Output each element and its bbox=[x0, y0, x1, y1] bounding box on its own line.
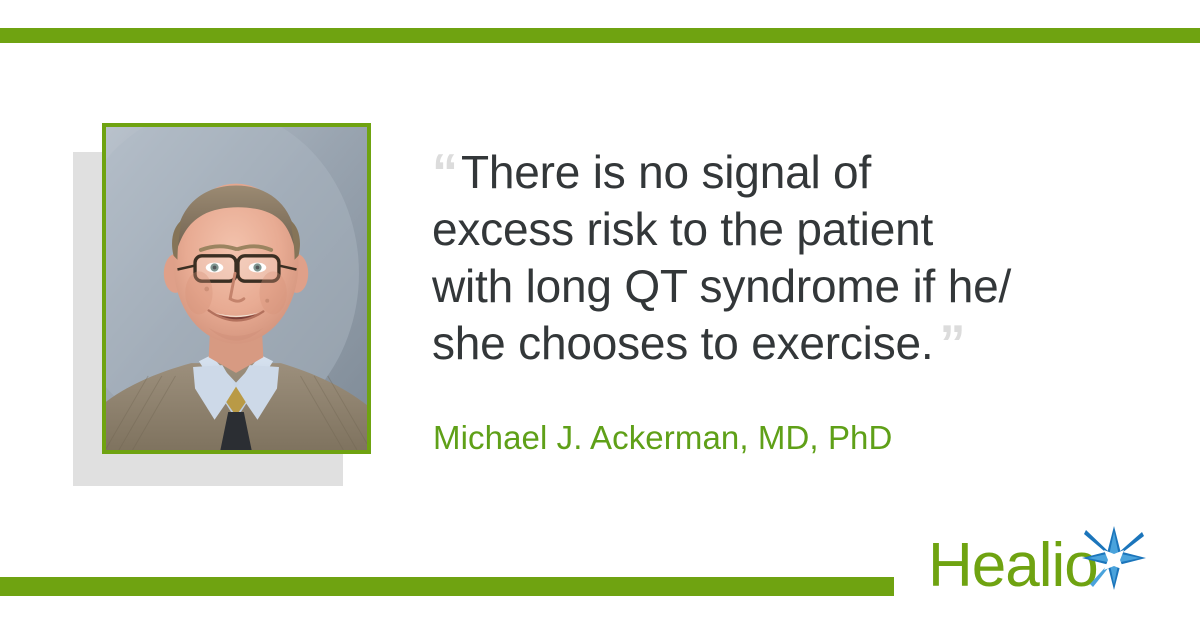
quote-line-2: excess risk to the patient bbox=[432, 201, 1032, 258]
quote-line-4: she chooses to exercise.” bbox=[432, 315, 1032, 372]
quote-line-3: with long QT syndrome if he/ bbox=[432, 258, 1032, 315]
quote-card: “There is no signal of excess risk to th… bbox=[0, 0, 1200, 630]
green-rule-bottom bbox=[0, 577, 894, 596]
green-rule-top bbox=[0, 28, 1200, 43]
quote-line-2-text: excess risk to the patient bbox=[432, 203, 933, 255]
quote-text: “There is no signal of excess risk to th… bbox=[432, 144, 1032, 372]
quote-line-3-text: with long QT syndrome if he/ bbox=[432, 260, 1011, 312]
svg-text:Healio: Healio bbox=[928, 531, 1098, 600]
open-quote-mark: “ bbox=[432, 144, 457, 202]
quote-line-1-text: There is no signal of bbox=[461, 146, 871, 198]
close-quote-mark: ” bbox=[939, 315, 964, 373]
portrait-frame bbox=[102, 123, 371, 454]
quote-column: “There is no signal of excess risk to th… bbox=[432, 144, 1052, 372]
healio-logo[interactable]: Healio bbox=[928, 524, 1152, 600]
quote-line-1: “There is no signal of bbox=[432, 144, 1032, 201]
portrait-block bbox=[73, 123, 373, 488]
attribution-name: Michael J. Ackerman, MD, PhD bbox=[433, 418, 892, 458]
portrait-photo bbox=[106, 127, 367, 450]
quote-line-4-text: she chooses to exercise. bbox=[432, 317, 933, 369]
